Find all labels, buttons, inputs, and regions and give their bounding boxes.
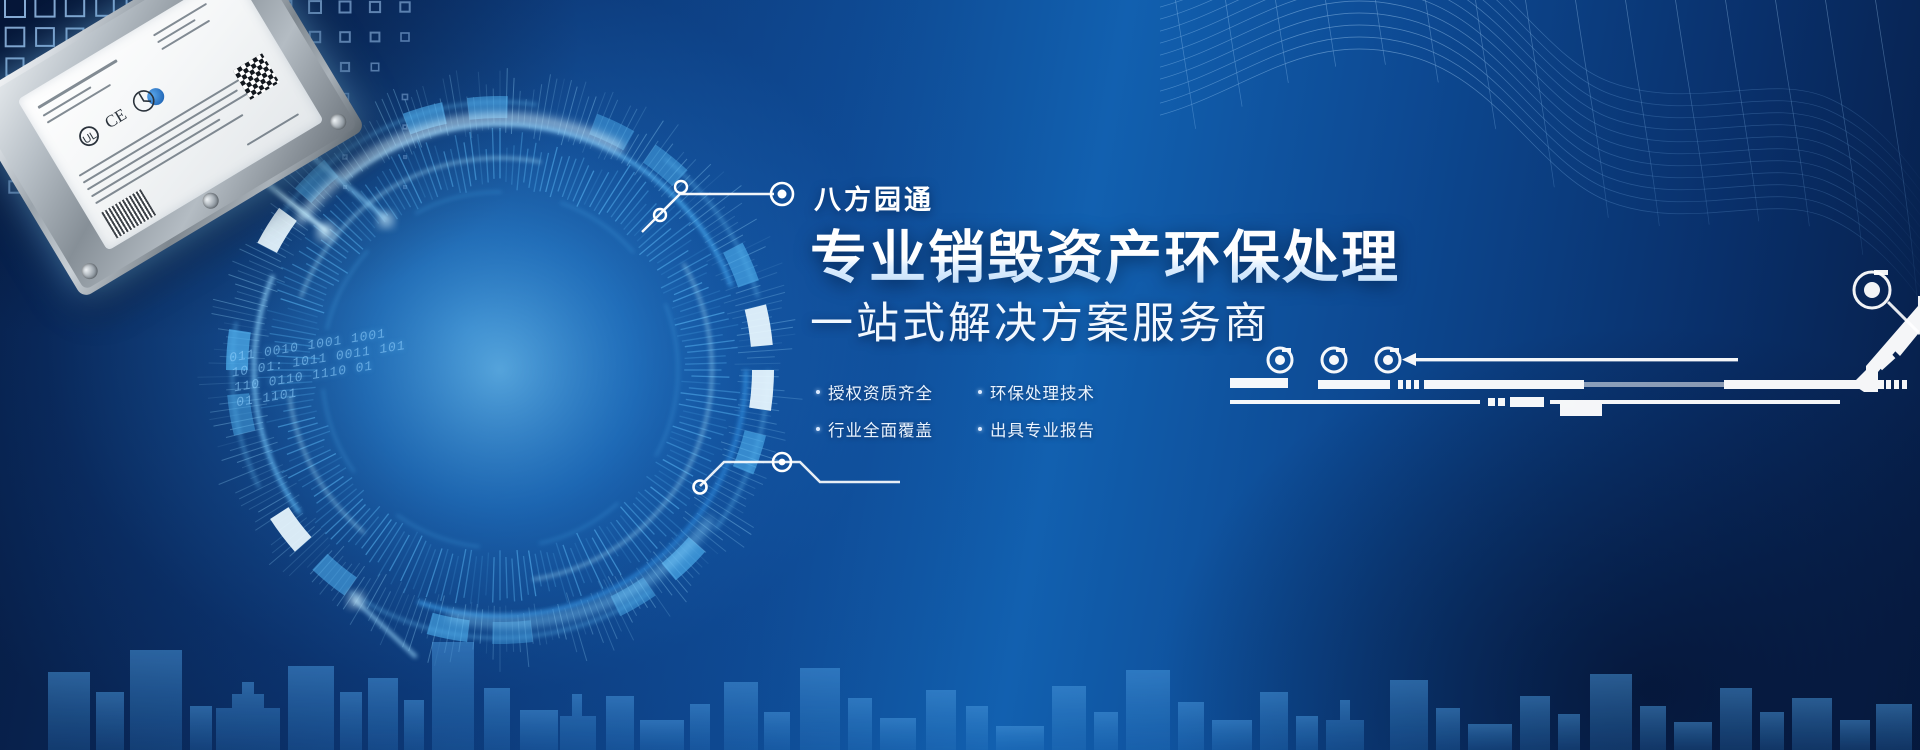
feature-label: 授权资质齐全 — [828, 380, 933, 404]
circuit-connector-lower — [690, 430, 910, 560]
subheadline: 一站式解决方案服务商 — [810, 299, 1570, 351]
hdd-label: CE UL — [17, 0, 324, 251]
bullet-dot-icon — [978, 427, 982, 431]
hard-disk-drive-image: CE UL — [0, 0, 366, 299]
promo-banner: CE UL 011 0010 1001 1001 10 01: 1011 001… — [0, 0, 1920, 750]
feature-label: 环保处理技术 — [990, 380, 1095, 404]
feature-list: 授权资质齐全 环保处理技术 行业全面覆盖 出具专业报告 — [816, 380, 1570, 441]
bullet-dot-icon — [978, 390, 982, 394]
headline: 专业销毁资产环保处理 — [810, 227, 1570, 291]
feature-item: 环保处理技术 — [978, 380, 1116, 404]
svg-text:CE: CE — [101, 105, 129, 132]
banner-copy: 八方园通 专业销毁资产环保处理 一站式解决方案服务商 授权资质齐全 环保处理技术… — [810, 178, 1570, 441]
feature-item: 行业全面覆盖 — [816, 417, 954, 441]
binary-code-text: 011 0010 1001 1001 10 01: 1011 0011 101 … — [228, 310, 496, 420]
feature-label: 行业全面覆盖 — [828, 417, 933, 441]
bullet-dot-icon — [816, 427, 820, 431]
bullet-dot-icon — [816, 390, 820, 394]
circuit-node-cluster — [1800, 250, 1920, 370]
feature-item: 授权资质齐全 — [816, 380, 954, 404]
brand-name: 八方园通 — [814, 178, 1570, 217]
feature-label: 出具专业报告 — [990, 417, 1095, 441]
feature-item: 出具专业报告 — [978, 417, 1116, 441]
city-skyline-decoration — [0, 520, 1920, 750]
